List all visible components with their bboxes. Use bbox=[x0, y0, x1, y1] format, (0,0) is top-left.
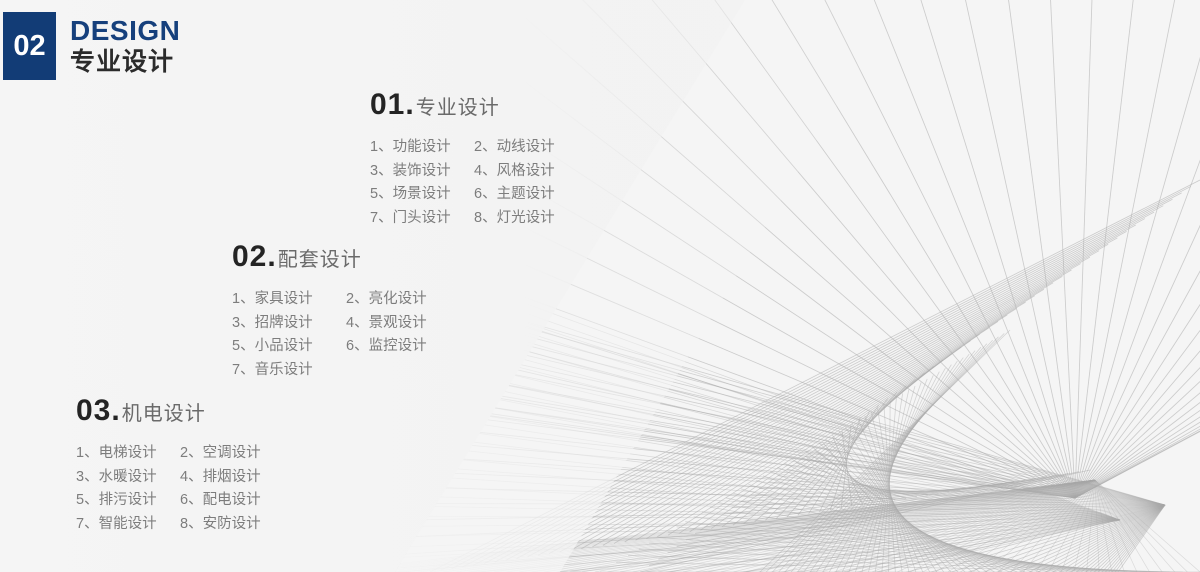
list-cell: 7、音乐设计 bbox=[232, 359, 346, 383]
list-cell: 6、监控设计 bbox=[346, 335, 427, 359]
list-cell: 5、场景设计 bbox=[370, 183, 474, 207]
list-cell: 4、风格设计 bbox=[474, 160, 555, 184]
block-01-list: 1、功能设计 2、动线设计 3、装饰设计 4、风格设计 5、场景设计 6、主题设… bbox=[370, 136, 555, 230]
page-title-cn: 专业设计 bbox=[70, 48, 180, 77]
list-item: 7、音乐设计 bbox=[232, 359, 427, 383]
list-item: 5、排污设计 6、配电设计 bbox=[76, 489, 261, 513]
list-item: 7、智能设计 8、安防设计 bbox=[76, 513, 261, 537]
header-text-group: DESIGN 专业设计 bbox=[70, 12, 180, 76]
list-cell: 1、电梯设计 bbox=[76, 442, 180, 466]
list-item: 5、场景设计 6、主题设计 bbox=[370, 183, 555, 207]
list-cell: 3、招牌设计 bbox=[232, 312, 346, 336]
list-cell: 5、排污设计 bbox=[76, 489, 180, 513]
content-block-01: 01.专业设计 1、功能设计 2、动线设计 3、装饰设计 4、风格设计 5、场景… bbox=[370, 90, 555, 230]
list-cell: 3、水暖设计 bbox=[76, 466, 180, 490]
list-cell: 6、配电设计 bbox=[180, 489, 261, 513]
list-cell: 5、小品设计 bbox=[232, 335, 346, 359]
block-01-number: 01 bbox=[370, 88, 405, 121]
block-03-number: 03 bbox=[76, 394, 111, 427]
list-cell: 8、安防设计 bbox=[180, 513, 261, 537]
block-01-heading: 01.专业设计 bbox=[370, 90, 555, 120]
list-cell: 2、空调设计 bbox=[180, 442, 261, 466]
page-title-en: DESIGN bbox=[70, 17, 180, 46]
section-header: 02 DESIGN 专业设计 bbox=[3, 12, 180, 80]
list-item: 3、招牌设计 4、景观设计 bbox=[232, 312, 427, 336]
list-cell: 4、排烟设计 bbox=[180, 466, 261, 490]
block-02-title: 配套设计 bbox=[278, 249, 362, 271]
block-03-title: 机电设计 bbox=[122, 403, 206, 425]
block-01-title: 专业设计 bbox=[416, 97, 500, 119]
slide-canvas: 02 DESIGN 专业设计 01.专业设计 1、功能设计 2、动线设计 3、装… bbox=[0, 0, 1200, 572]
list-cell: 1、功能设计 bbox=[370, 136, 474, 160]
block-03-dot: . bbox=[111, 394, 119, 427]
list-cell: 4、景观设计 bbox=[346, 312, 427, 336]
block-01-dot: . bbox=[405, 88, 413, 121]
list-item: 1、功能设计 2、动线设计 bbox=[370, 136, 555, 160]
list-cell: 1、家具设计 bbox=[232, 288, 346, 312]
content-block-02: 02.配套设计 1、家具设计 2、亮化设计 3、招牌设计 4、景观设计 5、小品… bbox=[232, 242, 427, 382]
list-item: 5、小品设计 6、监控设计 bbox=[232, 335, 427, 359]
list-cell: 7、智能设计 bbox=[76, 513, 180, 537]
content-block-03: 03.机电设计 1、电梯设计 2、空调设计 3、水暖设计 4、排烟设计 5、排污… bbox=[76, 396, 261, 536]
list-item: 3、水暖设计 4、排烟设计 bbox=[76, 466, 261, 490]
list-cell: 2、动线设计 bbox=[474, 136, 555, 160]
list-item: 1、电梯设计 2、空调设计 bbox=[76, 442, 261, 466]
list-cell: 7、门头设计 bbox=[370, 207, 474, 231]
list-item: 7、门头设计 8、灯光设计 bbox=[370, 207, 555, 231]
block-02-heading: 02.配套设计 bbox=[232, 242, 427, 272]
block-03-list: 1、电梯设计 2、空调设计 3、水暖设计 4、排烟设计 5、排污设计 6、配电设… bbox=[76, 442, 261, 536]
list-item: 3、装饰设计 4、风格设计 bbox=[370, 160, 555, 184]
list-cell: 8、灯光设计 bbox=[474, 207, 555, 231]
section-number-badge: 02 bbox=[3, 12, 56, 80]
block-02-list: 1、家具设计 2、亮化设计 3、招牌设计 4、景观设计 5、小品设计 6、监控设… bbox=[232, 288, 427, 382]
list-item: 1、家具设计 2、亮化设计 bbox=[232, 288, 427, 312]
block-02-number: 02 bbox=[232, 240, 267, 273]
list-cell: 6、主题设计 bbox=[474, 183, 555, 207]
block-03-heading: 03.机电设计 bbox=[76, 396, 261, 426]
block-02-dot: . bbox=[267, 240, 275, 273]
list-cell: 2、亮化设计 bbox=[346, 288, 427, 312]
list-cell: 3、装饰设计 bbox=[370, 160, 474, 184]
